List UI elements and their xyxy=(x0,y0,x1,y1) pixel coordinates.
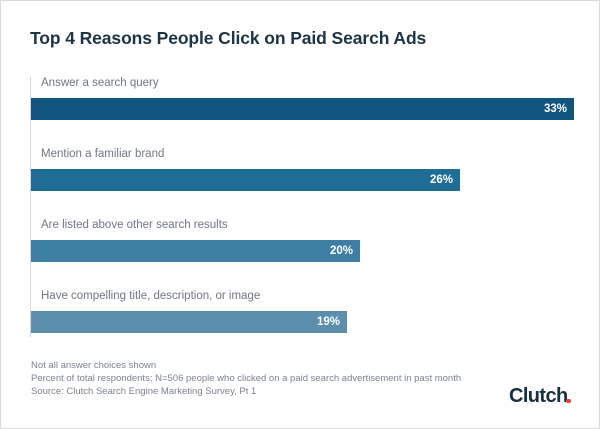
bar-value-label: 33% xyxy=(544,103,574,115)
clutch-logo-dot-icon xyxy=(566,399,571,404)
footnote-source: Source: Clutch Search Engine Marketing S… xyxy=(31,385,461,398)
bar-value-label: 19% xyxy=(317,316,347,328)
clutch-logo: Clutch xyxy=(509,386,568,406)
bar-1: 26% xyxy=(31,169,460,191)
bar-category-label: Mention a familiar brand xyxy=(41,148,164,160)
bar-2: 20% xyxy=(31,240,360,262)
bar-0: 33% xyxy=(31,98,574,120)
clutch-logo-text: Clutch xyxy=(509,385,568,407)
bar-3: 19% xyxy=(31,311,347,333)
footnote-sample-size: Percent of total respondents; N=506 peop… xyxy=(31,372,461,385)
bar-category-label: Answer a search query xyxy=(41,77,159,89)
chart-title: Top 4 Reasons People Click on Paid Searc… xyxy=(30,28,426,49)
bar-value-label: 20% xyxy=(330,245,360,257)
chart-footnotes: Not all answer choices shown Percent of … xyxy=(31,359,461,399)
chart-container: Top 4 Reasons People Click on Paid Searc… xyxy=(0,0,600,429)
footnote-not-all-choices: Not all answer choices shown xyxy=(31,359,461,372)
bar-category-label: Have compelling title, description, or i… xyxy=(41,290,260,302)
bar-value-label: 26% xyxy=(430,174,460,186)
bar-chart-plot-area: Answer a search query 33% Mention a fami… xyxy=(30,77,575,337)
bar-category-label: Are listed above other search results xyxy=(41,219,228,231)
